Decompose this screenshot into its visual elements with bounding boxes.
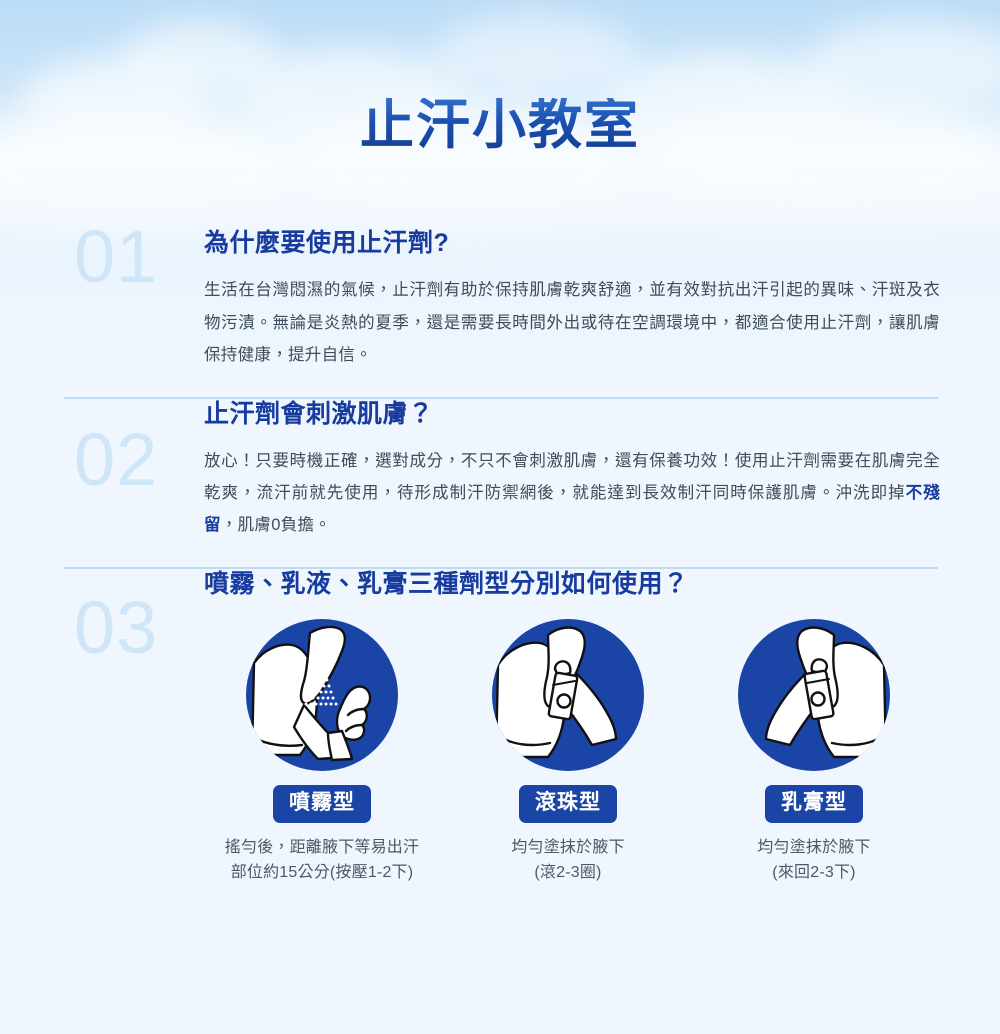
- section-heading-01: 為什麼要使用止汗劑?: [204, 228, 940, 258]
- section-body-02-part1: 放心！只要時機正確，選對成分，不只不會刺激肌膚，還有保養功效！使用止汗劑需要在肌…: [204, 452, 940, 502]
- usage-caption-rollon-line1: 均勻塗抹於腋下: [511, 839, 624, 856]
- section-number-01: 01: [74, 220, 158, 294]
- section-heading-02: 止汗劑會刺激肌膚？: [204, 399, 940, 429]
- rollon-underarm-icon: [492, 619, 644, 771]
- usage-badge-rollon: 滾珠型: [519, 785, 617, 822]
- section-heading-03: 噴霧、乳液、乳膏三種劑型分別如何使用？: [204, 569, 940, 599]
- section-body-02-part2: ，肌膚0負擔。: [221, 516, 331, 534]
- usage-cards: 噴霧型 搖勻後，距離腋下等易出汗 部位約15公分(按壓1-2下): [196, 619, 940, 885]
- sections-container: 01 為什麼要使用止汗劑? 生活在台灣悶濕的氣候，止汗劑有助於保持肌膚乾爽舒適，…: [0, 228, 1000, 911]
- usage-caption-spray-line1: 搖勻後，距離腋下等易出汗: [225, 839, 419, 856]
- usage-card-rollon: 滾珠型 均勻塗抹於腋下 (滾2-3圈): [452, 619, 684, 885]
- section-02: 02 止汗劑會刺激肌膚？ 放心！只要時機正確，選對成分，不只不會刺激肌膚，還有保…: [62, 399, 940, 568]
- page-title-wrapper: 止汗小教室: [0, 0, 1000, 188]
- page-root: 止汗小教室 01 為什麼要使用止汗劑? 生活在台灣悶濕的氣候，止汗劑有助於保持肌…: [0, 0, 1000, 1034]
- section-number-02: 02: [74, 423, 158, 497]
- usage-badge-spray: 噴霧型: [273, 785, 371, 822]
- spray-underarm-icon: [246, 619, 398, 771]
- usage-card-cream: 乳膏型 均勻塗抹於腋下 (來回2-3下): [698, 619, 930, 885]
- usage-caption-cream: 均勻塗抹於腋下 (來回2-3下): [704, 835, 924, 886]
- usage-card-spray: 噴霧型 搖勻後，距離腋下等易出汗 部位約15公分(按壓1-2下): [206, 619, 438, 885]
- usage-caption-cream-line2: (來回2-3下): [772, 864, 855, 881]
- cream-underarm-icon: [738, 619, 890, 771]
- section-body-01: 生活在台灣悶濕的氣候，止汗劑有助於保持肌膚乾爽舒適，並有效對抗出汗引起的異味、汗…: [204, 274, 940, 371]
- section-body-02: 放心！只要時機正確，選對成分，不只不會刺激肌膚，還有保養功效！使用止汗劑需要在肌…: [204, 445, 940, 542]
- usage-caption-rollon: 均勻塗抹於腋下 (滾2-3圈): [458, 835, 678, 886]
- usage-caption-cream-line1: 均勻塗抹於腋下: [757, 839, 870, 856]
- usage-caption-rollon-line2: (滾2-3圈): [534, 864, 601, 881]
- page-title: 止汗小教室: [360, 98, 640, 152]
- usage-caption-spray-line2: 部位約15公分(按壓1-2下): [231, 864, 414, 881]
- usage-badge-cream: 乳膏型: [765, 785, 863, 822]
- section-03: 03 噴霧、乳液、乳膏三種劑型分別如何使用？: [62, 569, 940, 911]
- section-number-03: 03: [74, 591, 158, 665]
- section-01: 01 為什麼要使用止汗劑? 生活在台灣悶濕的氣候，止汗劑有助於保持肌膚乾爽舒適，…: [62, 228, 940, 397]
- usage-caption-spray: 搖勻後，距離腋下等易出汗 部位約15公分(按壓1-2下): [206, 835, 438, 886]
